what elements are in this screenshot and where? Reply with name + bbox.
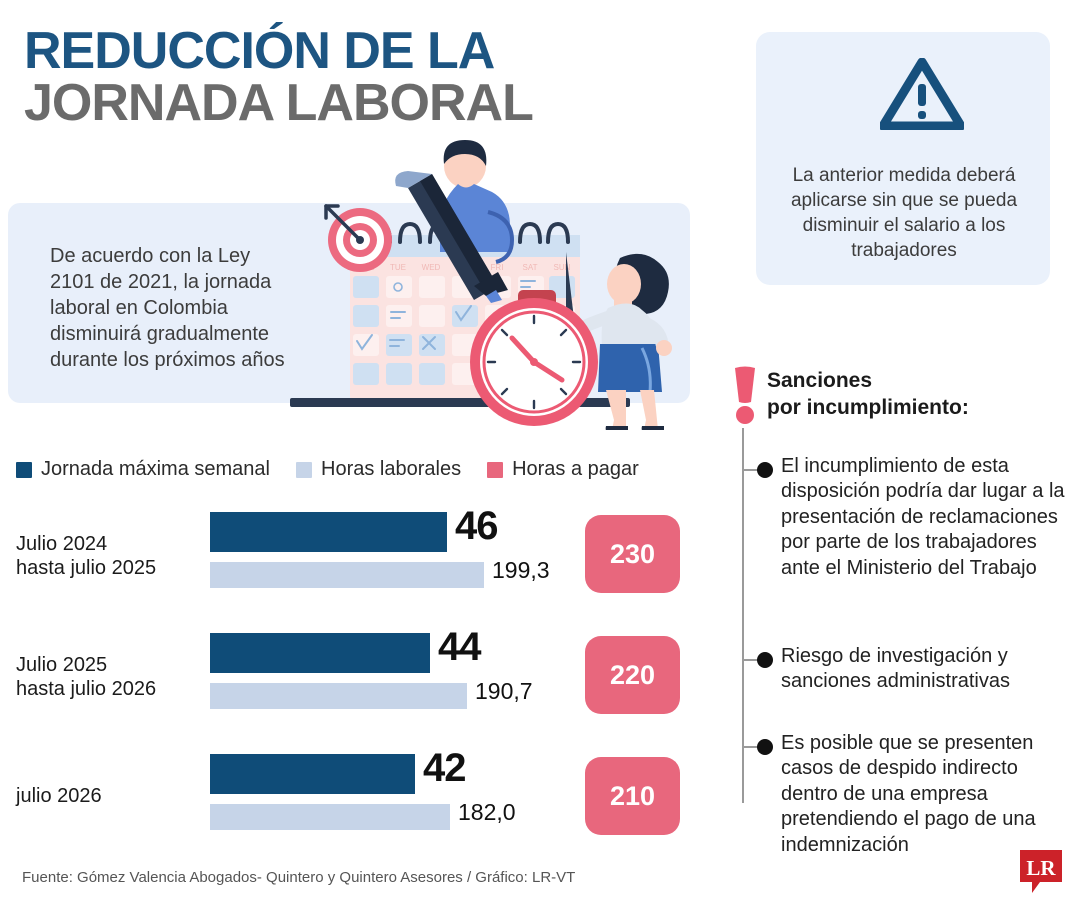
- row-label: julio 2026: [16, 784, 206, 808]
- sanctions-title-line: por incumplimiento:: [767, 395, 1067, 422]
- badge-horas-a-pagar: 220: [585, 636, 680, 714]
- row-label: Julio 2025 hasta julio 2026: [16, 653, 206, 702]
- bar-jornada-maxima: [210, 512, 447, 552]
- legend-label: Horas a pagar: [512, 458, 639, 481]
- chart-legend: Jornada máxima semanal Horas laborales H…: [16, 458, 639, 481]
- infographic-page: REDUCCIÓN DE LA JORNADA LABORAL De acuer…: [0, 0, 1080, 900]
- lr-logo: LR: [1018, 848, 1064, 894]
- source-credit: Fuente: Gómez Valencia Abogados- Quinter…: [22, 869, 575, 886]
- legend-label: Horas laborales: [321, 458, 461, 481]
- legend-swatch-icon: [296, 462, 312, 478]
- bar-value-jornada: 46: [455, 504, 498, 549]
- warning-text: La anterior medida deberá aplicarse sin …: [766, 163, 1042, 263]
- bullet-dot-icon: [757, 462, 773, 478]
- legend-item-horas-a-pagar[interactable]: Horas a pagar: [487, 458, 639, 481]
- badge-horas-a-pagar: 230: [585, 515, 680, 593]
- bar-value-horas: 190,7: [475, 678, 533, 705]
- chart-row: Julio 2025 hasta julio 2026 44 190,7 220: [0, 621, 700, 731]
- bar-jornada-maxima: [210, 633, 430, 673]
- chart-row: Julio 2024 hasta julio 2025 46 199,3 230: [0, 500, 700, 610]
- sanction-text: Riesgo de investigación y sanciones admi…: [781, 644, 1071, 695]
- badge-horas-a-pagar: 210: [585, 757, 680, 835]
- svg-text:SAT: SAT: [523, 263, 538, 272]
- page-title: REDUCCIÓN DE LA JORNADA LABORAL: [24, 26, 724, 130]
- warning-triangle-icon: [880, 58, 964, 130]
- exclamation-mark-icon: [731, 366, 759, 424]
- title-line-2: JORNADA LABORAL: [24, 77, 724, 130]
- sanctions-title-line: Sanciones: [767, 368, 1067, 395]
- legend-swatch-icon: [487, 462, 503, 478]
- row-label-line: hasta julio 2026: [16, 677, 206, 701]
- legend-item-horas-laborales[interactable]: Horas laborales: [296, 458, 461, 481]
- row-label: Julio 2024 hasta julio 2025: [16, 532, 206, 581]
- svg-text:FRI: FRI: [491, 263, 504, 272]
- sanctions-panel: Sanciones por incumplimiento: El incumpl…: [715, 360, 1080, 860]
- row-label-line: Julio 2024: [16, 532, 206, 556]
- bar-chart: Julio 2024 hasta julio 2025 46 199,3 230…: [0, 500, 700, 850]
- row-label-line: julio 2026: [16, 784, 206, 808]
- illustration-calendar-clock: MON TUE WED THU FRI SAT SUN: [290, 140, 700, 430]
- lr-logo-text: LR: [1026, 856, 1056, 880]
- sanction-text: Es posible que se presenten casos de des…: [781, 731, 1071, 858]
- bar-jornada-maxima: [210, 754, 415, 794]
- bar-horas-laborales: [210, 683, 467, 709]
- bar-value-jornada: 42: [423, 746, 466, 791]
- bar-value-horas: 199,3: [492, 557, 550, 584]
- sanctions-title: Sanciones por incumplimiento:: [767, 368, 1067, 422]
- svg-text:WED: WED: [422, 263, 441, 272]
- svg-text:TUE: TUE: [390, 263, 406, 272]
- title-line-1: REDUCCIÓN DE LA: [24, 26, 724, 77]
- row-label-line: Julio 2025: [16, 653, 206, 677]
- intro-text: De acuerdo con la Ley 2101 de 2021, la j…: [50, 243, 300, 373]
- row-label-line: hasta julio 2025: [16, 556, 206, 580]
- bar-value-jornada: 44: [438, 625, 481, 670]
- legend-swatch-icon: [16, 462, 32, 478]
- chart-row: julio 2026 42 182,0 210: [0, 742, 700, 852]
- target-arrow-icon: [326, 206, 392, 272]
- legend-item-jornada-maxima[interactable]: Jornada máxima semanal: [16, 458, 270, 481]
- bullet-dot-icon: [757, 739, 773, 755]
- sanction-text: El incumplimiento de esta disposición po…: [781, 454, 1071, 581]
- legend-label: Jornada máxima semanal: [41, 458, 270, 481]
- bar-horas-laborales: [210, 562, 484, 588]
- bullet-dot-icon: [757, 652, 773, 668]
- bar-value-horas: 182,0: [458, 799, 516, 826]
- bar-horas-laborales: [210, 804, 450, 830]
